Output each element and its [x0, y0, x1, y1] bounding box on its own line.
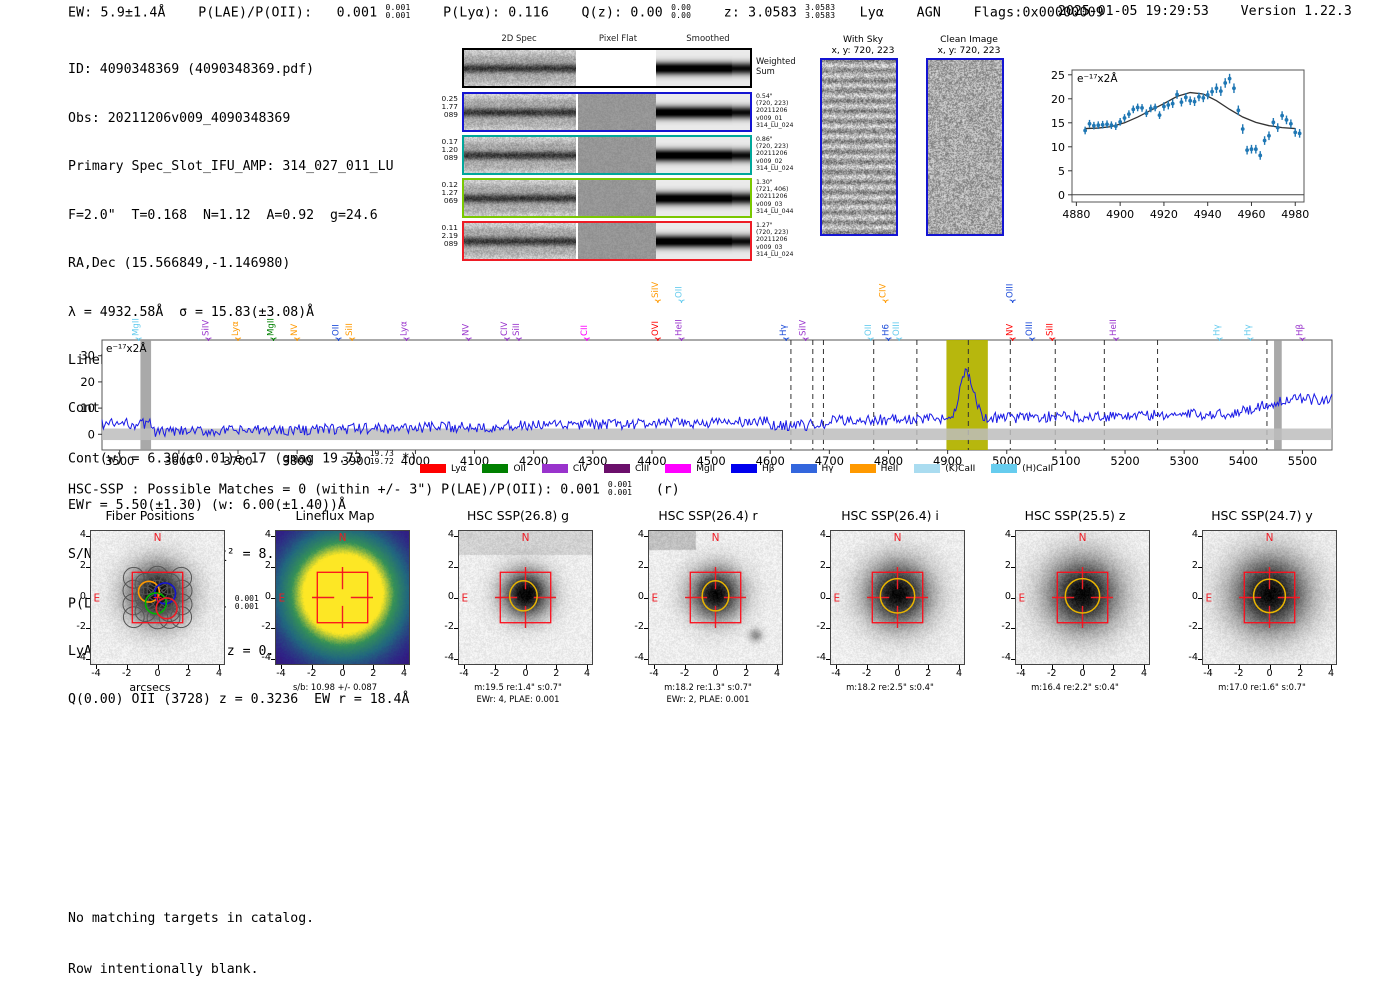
svg-text:e⁻¹⁷x2Å: e⁻¹⁷x2Å — [1077, 72, 1118, 85]
panel-2-xtick-4: 4 — [573, 668, 601, 679]
spectrum-line-label-8: NV — [462, 324, 472, 336]
spectrum-line-label-29: Hβ — [1295, 324, 1305, 336]
panel-2-xtickmark-1 — [495, 665, 496, 669]
panel-0-ytick-4: -4 — [64, 652, 86, 663]
panel-1-ytickmark-2 — [271, 598, 275, 599]
panel-4-ytickmark-4 — [826, 659, 830, 660]
panel-6-xtickmark-2 — [1270, 665, 1271, 669]
panel-2-xtick-0: -4 — [450, 668, 478, 679]
spec2d-row-meta-4: 1.27"(720, 223)20211206v009_03314_LU_024 — [756, 222, 816, 258]
compass-north-1: N — [339, 532, 347, 544]
panel-3-ytickmark-1 — [644, 567, 648, 568]
header-plae-label: P(LAE)/P(OII): — [198, 6, 312, 21]
panel-2-ytickmark-2 — [454, 598, 458, 599]
header-qz: Q(z): 0.00 — [582, 6, 663, 21]
panel-2-ytick-2: 0 — [432, 591, 454, 602]
header-classification: Lyα — [860, 6, 884, 21]
spec2d-row-meta-2: 0.86"(720, 223)20211206v009_02314_LU_024 — [756, 136, 816, 172]
spec2d-pixelflat-image-1 — [578, 94, 656, 130]
footer-note: No matching targets in catalog. Row inte… — [68, 876, 314, 995]
spec2d-row-4 — [462, 221, 752, 261]
panel-4-xtickmark-3 — [928, 665, 929, 669]
panel-3-xtick-2: 0 — [702, 668, 730, 679]
panel-3-xtickmark-1 — [685, 665, 686, 669]
panel-6-xtick-1: -2 — [1225, 668, 1253, 679]
panel-4-caption-0: m:18.2 re:2.5" s:0.4" — [790, 682, 990, 693]
panel-0-xtickmark-3 — [188, 665, 189, 669]
spec2d-raw-image-2 — [464, 137, 576, 173]
legend-label-1: OII — [513, 464, 525, 474]
spectrum-line-label-12: OVI — [651, 321, 661, 336]
legend-swatch-3 — [604, 464, 630, 473]
svg-text:5300: 5300 — [1170, 454, 1199, 468]
panel-image-3[interactable]: NE — [648, 530, 783, 665]
panel-4-xtickmark-1 — [867, 665, 868, 669]
panel-2-ytick-3: -2 — [432, 621, 454, 632]
info-fwhm: F=2.0" T=0.168 N=1.12 A=0.92 g=24.6 — [68, 208, 418, 224]
legend-swatch-1 — [482, 464, 508, 473]
spec2d-row-3 — [462, 178, 752, 218]
legend-item-3: CIII — [604, 464, 649, 474]
legend-item-5: Hβ — [731, 464, 775, 474]
spec2d-row-meta-1: 0.54"(720, 223)20211206v009_01314_LU_024 — [756, 93, 816, 129]
panel-4-xtick-4: 4 — [945, 668, 973, 679]
svg-text:10: 10 — [80, 401, 95, 415]
panel-2-xtickmark-2 — [526, 665, 527, 669]
line-profile-chart: 0510152025488049004920494049604980e⁻¹⁷x2… — [1032, 60, 1312, 230]
panel-1-ytick-2: 0 — [249, 591, 271, 602]
header-agn-flag: AGN — [917, 6, 941, 21]
panel-0-xtickmark-2 — [158, 665, 159, 669]
panel-1-ytick-1: 2 — [249, 560, 271, 571]
legend-swatch-7 — [850, 464, 876, 473]
sky-clean-cutouts: With Skyx, y: 720, 223Clean Imagex, y: 7… — [820, 34, 1020, 249]
panel-5-xtickmark-4 — [1144, 665, 1145, 669]
panel-0-xtickmark-4 — [219, 665, 220, 669]
panel-5-xtick-4: 4 — [1130, 668, 1158, 679]
svg-text:4940: 4940 — [1194, 208, 1222, 221]
panel-2-xtick-3: 2 — [542, 668, 570, 679]
panel-1-xtick-3: 2 — [359, 668, 387, 679]
spectrum-line-label-16: Hγ — [779, 324, 789, 336]
panel-6-ytickmark-0 — [1198, 536, 1202, 537]
panel-0-ytick-0: 4 — [64, 529, 86, 540]
panel-image-6[interactable]: NE — [1202, 530, 1337, 665]
spectrum-line-label-10: SiII — [512, 323, 522, 336]
legend-item-2: CIV — [542, 464, 588, 474]
svg-text:3600: 3600 — [164, 454, 193, 468]
spec2d-row-1 — [462, 92, 752, 132]
panel-3-ytickmark-2 — [644, 598, 648, 599]
legend-label-6: Hγ — [822, 464, 834, 474]
panel-4-ytick-1: 2 — [804, 560, 826, 571]
panel-image-4[interactable]: NE — [830, 530, 965, 665]
panel-6-ytickmark-4 — [1198, 659, 1202, 660]
panel-fibers-0[interactable]: Fiber PositionsNE420-2-4-4-2024arcsecs — [60, 508, 260, 736]
spec2d-smoothed-image-3 — [656, 180, 750, 216]
legend-item-9: (H)CaII — [991, 464, 1053, 474]
cutout-coords-0: x, y: 720, 223 — [808, 45, 918, 56]
panel-overlay-6: NE — [1203, 531, 1336, 664]
panel-2-ytick-4: -4 — [432, 652, 454, 663]
panel-3-xtick-1: -2 — [671, 668, 699, 679]
line-profile-svg: 0510152025488049004920494049604980e⁻¹⁷x2… — [1032, 60, 1312, 230]
svg-text:3500: 3500 — [105, 454, 134, 468]
spec2d-pixelflat-image-0 — [578, 50, 656, 86]
legend-swatch-8 — [914, 464, 940, 473]
spectrum-line-label-3: MgII — [266, 318, 276, 336]
header-plae-range: 0.0010.001 — [385, 4, 410, 19]
panel-3-caption-1: EWr: 2, PLAE: 0.001 — [608, 694, 808, 705]
panel-3-ytick-3: -2 — [622, 621, 644, 632]
panel-4-xtick-0: -4 — [822, 668, 850, 679]
panel-1-ytick-3: -2 — [249, 621, 271, 632]
panel-3-xtickmark-4 — [777, 665, 778, 669]
svg-text:0: 0 — [88, 427, 95, 441]
panel-0-xtickmark-1 — [127, 665, 128, 669]
spec2d-row-0 — [462, 48, 752, 88]
panel-1-ytick-0: 4 — [249, 529, 271, 540]
spec2d-smoothed-image-4 — [656, 223, 750, 259]
panel-0-ytick-1: 2 — [64, 560, 86, 571]
panel-3-xtick-0: -4 — [640, 668, 668, 679]
svg-text:3900: 3900 — [342, 454, 371, 468]
legend-item-0: Lyα — [420, 464, 466, 474]
svg-text:3700: 3700 — [223, 454, 252, 468]
panel-1-xtickmark-4 — [404, 665, 405, 669]
panel-0-xtick-3: 2 — [174, 668, 202, 679]
panel-gray-5[interactable]: HSC SSP(25.5) zNE420-2-4-4-2024m:16.4 re… — [985, 508, 1185, 736]
panel-lineflux-1[interactable]: Lineflux MapNE420-2-4-4-2024s/b: 10.98 +… — [245, 508, 445, 736]
panel-overlay-1: NE — [276, 531, 409, 664]
panel-2-xtick-2: 0 — [512, 668, 540, 679]
full-spectrum-svg: 0102030350036003700380039004000410042004… — [60, 262, 1340, 472]
cutout-image-1 — [926, 58, 1004, 236]
legend-swatch-6 — [791, 464, 817, 473]
panel-overlay-5: NE — [1016, 531, 1149, 664]
spec2d-row-weights-1: 0.251.77089 — [420, 95, 458, 119]
spec2d-raw-image-1 — [464, 94, 576, 130]
panel-6-ytickmark-1 — [1198, 567, 1202, 568]
panel-5-xtickmark-3 — [1113, 665, 1114, 669]
panel-6-ytick-0: 4 — [1176, 529, 1198, 540]
panel-0-xlabel: arcsecs — [50, 682, 250, 693]
spec2d-row-meta-3: 1.30"(721, 406)20211206v009_03314_LU_044 — [756, 179, 816, 215]
panel-0-xtickmark-0 — [96, 665, 97, 669]
panel-3-xtickmark-3 — [746, 665, 747, 669]
panel-overlay-4: NE — [831, 531, 964, 664]
spectrum-line-label-19: H6 — [881, 324, 891, 336]
panel-6-xtick-3: 2 — [1286, 668, 1314, 679]
panel-4-xtick-2: 0 — [884, 668, 912, 679]
panel-5-ytickmark-3 — [1011, 628, 1015, 629]
compass-east-3: E — [651, 593, 658, 605]
spec2d-raw-image-0 — [464, 50, 576, 86]
panel-5-xtick-0: -4 — [1007, 668, 1035, 679]
spectrum-line-label-5: OII — [332, 324, 342, 336]
legend-label-5: Hβ — [762, 464, 775, 474]
spectrum-line-label-23: OIII — [1006, 284, 1016, 298]
panel-4-ytick-2: 0 — [804, 591, 826, 602]
panel-2-ytick-1: 2 — [432, 560, 454, 571]
panel-2-xtick-1: -2 — [481, 668, 509, 679]
panel-6-xtickmark-1 — [1239, 665, 1240, 669]
panel-6-ytick-1: 2 — [1176, 560, 1198, 571]
panel-4-ytick-3: -2 — [804, 621, 826, 632]
svg-text:5: 5 — [1058, 165, 1065, 178]
panel-6-ytick-3: -2 — [1176, 621, 1198, 632]
panel-3-ytick-1: 2 — [622, 560, 644, 571]
legend-label-0: Lyα — [451, 464, 466, 474]
svg-text:5400: 5400 — [1229, 454, 1258, 468]
header-version: Version 1.22.3 — [1241, 4, 1352, 19]
panel-4-ytick-0: 4 — [804, 529, 826, 540]
panel-0-ytickmark-2 — [86, 598, 90, 599]
panel-1-xtick-2: 0 — [329, 668, 357, 679]
panel-5-xtickmark-1 — [1052, 665, 1053, 669]
spec2d-smoothed-image-1 — [656, 94, 750, 130]
panel-title-1: Lineflux Map — [235, 508, 435, 523]
spectrum-line-label-27: Hγ — [1213, 324, 1223, 336]
spec2d-pixelflat-image-4 — [578, 223, 656, 259]
panel-overlay-2: NE — [459, 531, 592, 664]
spectrum-line-label-13: SiIV — [651, 282, 661, 298]
spectrum-line-label-22: NV — [1006, 324, 1016, 336]
spectrum-line-label-0: MgII — [132, 318, 142, 336]
panel-gray-3[interactable]: HSC SSP(26.4) rNE420-2-4-4-2024m:18.2 re… — [618, 508, 818, 736]
legend-item-8: (K)CaII — [914, 464, 975, 474]
header-z-range: 3.05833.0583 — [805, 4, 835, 19]
info-primary-spec: Primary Spec_Slot_IFU_AMP: 314_027_011_L… — [68, 159, 418, 175]
panel-1-xtick-0: -4 — [267, 668, 295, 679]
panel-6-xtickmark-4 — [1331, 665, 1332, 669]
panel-5-ytickmark-0 — [1011, 536, 1015, 537]
hsc-plae-range: 0.0010.001 — [608, 481, 632, 496]
svg-text:20: 20 — [80, 375, 95, 389]
panel-6-xtickmark-0 — [1208, 665, 1209, 669]
legend-label-4: MgII — [696, 464, 715, 474]
svg-text:4900: 4900 — [1106, 208, 1134, 221]
panel-4-xtickmark-4 — [959, 665, 960, 669]
panel-0-xtick-2: 0 — [144, 668, 172, 679]
panel-gray-4[interactable]: HSC SSP(26.4) iNE420-2-4-4-2024m:18.2 re… — [800, 508, 1000, 736]
panel-4-ytick-4: -4 — [804, 652, 826, 663]
panel-4-ytickmark-0 — [826, 536, 830, 537]
header-timestamp-version: 2025-01-05 19:29:53 Version 1.22.3 — [1058, 4, 1352, 19]
panel-5-ytick-1: 2 — [989, 560, 1011, 571]
svg-text:4960: 4960 — [1237, 208, 1265, 221]
panel-5-xtick-1: -2 — [1038, 668, 1066, 679]
footer-line-1: No matching targets in catalog. — [68, 910, 314, 927]
compass-east-5: E — [1018, 593, 1025, 605]
panel-0-ytick-3: -2 — [64, 621, 86, 632]
panel-2-ytickmark-3 — [454, 628, 458, 629]
panel-0-ytickmark-1 — [86, 567, 90, 568]
svg-text:4980: 4980 — [1281, 208, 1309, 221]
spec2d-row-2 — [462, 135, 752, 175]
spec2d-column-title-1: Pixel Flat — [578, 34, 658, 44]
compass-north-4: N — [894, 532, 902, 544]
svg-text:15: 15 — [1051, 117, 1065, 130]
spectrum-line-label-11: CII — [580, 325, 590, 336]
legend-label-3: CIII — [635, 464, 649, 474]
legend-swatch-9 — [991, 464, 1017, 473]
panel-0-ytickmark-3 — [86, 628, 90, 629]
spec2d-smoothed-image-0 — [656, 50, 750, 86]
legend-label-2: CIV — [573, 464, 588, 474]
panel-2-caption-1: EWr: 4, PLAE: 0.001 — [418, 694, 618, 705]
panel-2-ytickmark-4 — [454, 659, 458, 660]
spectrum-line-label-14: HeII — [675, 319, 685, 336]
spectrum-line-label-20: OIII — [892, 322, 902, 336]
compass-east-2: E — [461, 593, 468, 605]
spectrum-line-label-21: CIV — [879, 283, 889, 298]
svg-text:5500: 5500 — [1288, 454, 1317, 468]
compass-north-3: N — [712, 532, 720, 544]
spectrum-line-label-15: OII — [675, 286, 685, 298]
panel-1-xtick-1: -2 — [298, 668, 326, 679]
cutout-image-0 — [820, 58, 898, 236]
legend-item-6: Hγ — [791, 464, 834, 474]
panel-4-xtickmark-0 — [836, 665, 837, 669]
panel-5-ytick-0: 4 — [989, 529, 1011, 540]
legend-label-9: (H)CaII — [1022, 464, 1053, 474]
panel-overlay-3: NE — [649, 531, 782, 664]
compass-east-0: E — [93, 593, 100, 605]
panel-overlay-0: NE — [91, 531, 224, 664]
panel-image-0[interactable]: NE — [90, 530, 225, 665]
panel-3-ytick-2: 0 — [622, 591, 644, 602]
spec2d-weighted-sum-label: WeightedSum — [756, 56, 796, 76]
panel-0-xtick-4: 4 — [205, 668, 233, 679]
spectrum-line-label-28: Hγ — [1243, 324, 1253, 336]
cutout-coords-1: x, y: 720, 223 — [914, 45, 1024, 56]
panel-image-2[interactable]: NE — [458, 530, 593, 665]
spectrum-line-label-6: SiII — [345, 323, 355, 336]
panel-5-caption-0: m:16.4 re:2.2" s:0.4" — [975, 682, 1175, 693]
panel-gray-2[interactable]: HSC SSP(26.8) gNE420-2-4-4-2024m:19.5 re… — [428, 508, 628, 736]
panel-image-5[interactable]: NE — [1015, 530, 1150, 665]
legend-item-4: MgII — [665, 464, 715, 474]
hsc-band-note: (r) — [656, 483, 680, 498]
panel-5-xtick-3: 2 — [1099, 668, 1127, 679]
svg-text:0: 0 — [1058, 189, 1065, 202]
spec2d-raw-image-3 — [464, 180, 576, 216]
hsc-match-headline: HSC-SSP : Possible Matches = 0 (within +… — [68, 481, 680, 498]
svg-text:3800: 3800 — [283, 454, 312, 468]
panel-2-xtickmark-0 — [464, 665, 465, 669]
panel-3-ytickmark-4 — [644, 659, 648, 660]
panel-2-caption-0: m:19.5 re:1.4" s:0.7" — [418, 682, 618, 693]
legend-swatch-2 — [542, 464, 568, 473]
cutout-name-1: Clean Image — [914, 34, 1024, 45]
panel-2-ytickmark-0 — [454, 536, 458, 537]
legend-item-7: HeII — [850, 464, 899, 474]
panel-3-caption-0: m:18.2 re:1.3" s:0.7" — [608, 682, 808, 693]
svg-text:20: 20 — [1051, 93, 1065, 106]
spectrum-line-label-18: OII — [864, 324, 874, 336]
svg-text:e⁻¹⁷x2Å: e⁻¹⁷x2Å — [106, 342, 147, 355]
panel-6-ytick-2: 0 — [1176, 591, 1198, 602]
header-z: z: 3.0583 — [724, 6, 797, 21]
panel-1-caption-0: s/b: 10.98 +/- 0.087 — [235, 682, 435, 693]
panel-image-1[interactable]: NE — [275, 530, 410, 665]
svg-text:5200: 5200 — [1110, 454, 1139, 468]
panel-title-4: HSC SSP(26.4) i — [790, 508, 990, 523]
svg-text:30: 30 — [80, 349, 95, 363]
panel-0-ytickmark-4 — [86, 659, 90, 660]
panel-4-ytickmark-1 — [826, 567, 830, 568]
info-id: ID: 4090348369 (4090348369.pdf) — [68, 62, 418, 78]
header-qz-range: 0.000.00 — [671, 4, 691, 19]
panel-1-xtickmark-2 — [343, 665, 344, 669]
panel-6-xtick-4: 4 — [1317, 668, 1345, 679]
panel-3-ytickmark-0 — [644, 536, 648, 537]
panel-0-xtick-0: -4 — [82, 668, 110, 679]
spectrum-line-label-9: CIV — [500, 321, 510, 336]
panel-4-xtick-3: 2 — [914, 668, 942, 679]
spec2d-column-title-2: Smoothed — [668, 34, 748, 44]
panel-1-ytickmark-4 — [271, 659, 275, 660]
panel-3-xtick-4: 4 — [763, 668, 791, 679]
spectrum-line-label-1: SiIV — [201, 320, 211, 336]
panel-1-ytickmark-3 — [271, 628, 275, 629]
panel-1-xtick-4: 4 — [390, 668, 418, 679]
panel-0-ytick-2: 0 — [64, 591, 86, 602]
panel-5-ytick-3: -2 — [989, 621, 1011, 632]
legend-swatch-5 — [731, 464, 757, 473]
panel-title-6: HSC SSP(24.7) y — [1162, 508, 1362, 523]
panel-6-xtickmark-3 — [1300, 665, 1301, 669]
panel-6-ytickmark-3 — [1198, 628, 1202, 629]
panel-gray-6[interactable]: HSC SSP(24.7) yNE420-2-4-4-2024m:17.0 re… — [1172, 508, 1372, 736]
panel-title-3: HSC SSP(26.4) r — [608, 508, 808, 523]
header-datetime: 2025-01-05 19:29:53 — [1058, 4, 1209, 19]
panel-5-ytick-2: 0 — [989, 591, 1011, 602]
info-obs: Obs: 20211206v009_4090348369 — [68, 111, 418, 127]
compass-east-4: E — [833, 593, 840, 605]
spec2d-row-weights-3: 0.121.27069 — [420, 181, 458, 205]
cutout-name-0: With Sky — [808, 34, 918, 45]
compass-north-0: N — [154, 532, 162, 544]
panel-3-ytickmark-3 — [644, 628, 648, 629]
svg-text:4880: 4880 — [1062, 208, 1090, 221]
spectrum-line-label-2: Lyα — [231, 321, 241, 336]
hsc-headline-text: HSC-SSP : Possible Matches = 0 (within +… — [68, 483, 600, 498]
panel-1-ytickmark-0 — [271, 536, 275, 537]
panel-title-2: HSC SSP(26.8) g — [418, 508, 618, 523]
spectrum-line-label-4: NV — [290, 324, 300, 336]
panel-6-ytick-4: -4 — [1176, 652, 1198, 663]
panel-5-ytickmark-1 — [1011, 567, 1015, 568]
header-plya: P(Lyα): 0.116 — [443, 6, 549, 21]
panel-4-ytickmark-2 — [826, 598, 830, 599]
panel-3-xtickmark-2 — [716, 665, 717, 669]
panel-3-xtickmark-0 — [654, 665, 655, 669]
cutout-title-0: With Skyx, y: 720, 223 — [808, 34, 918, 56]
panel-6-caption-0: m:17.0 re:1.6" s:0.7" — [1162, 682, 1362, 693]
panel-1-ytickmark-1 — [271, 567, 275, 568]
legend-label-7: HeII — [881, 464, 899, 474]
panel-1-xtickmark-0 — [281, 665, 282, 669]
compass-east-1: E — [278, 593, 285, 605]
svg-text:25: 25 — [1051, 69, 1065, 82]
panel-1-xtickmark-1 — [312, 665, 313, 669]
header-ew: EW: 5.9±1.4Å — [68, 6, 166, 21]
svg-text:4920: 4920 — [1150, 208, 1178, 221]
panel-2-ytickmark-1 — [454, 567, 458, 568]
footer-line-2: Row intentionally blank. — [68, 961, 314, 978]
